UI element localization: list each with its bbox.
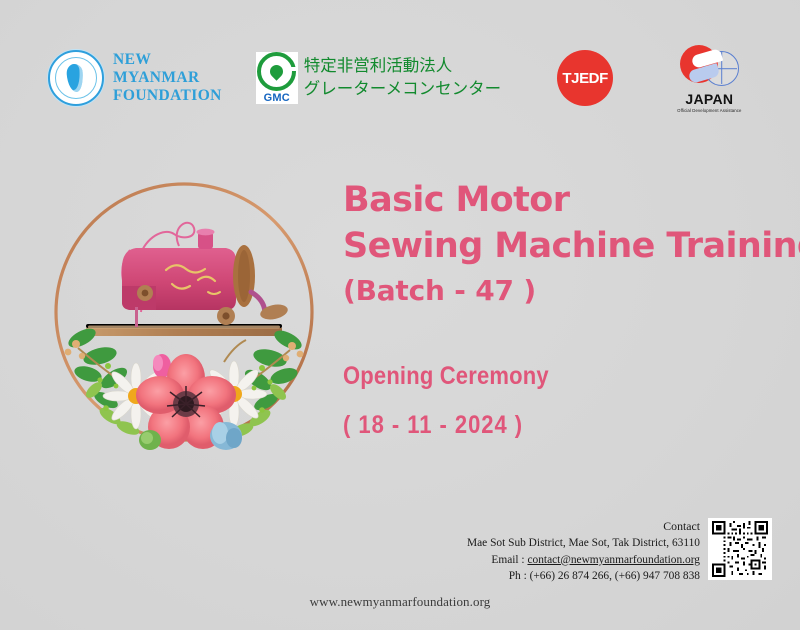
contact-email-link[interactable]: contact@newmyanmarfoundation.org: [527, 554, 700, 566]
gmc-leaf-shape: [268, 62, 286, 80]
footer-website[interactable]: www.newmyanmarfoundation.org: [0, 594, 800, 610]
headline-batch-line: (Batch - 47 ): [343, 270, 800, 312]
gmc-leaf-circle-icon: GMC: [256, 52, 298, 104]
gmc-japanese-name: 特定非営利活動法人 グレーターメコンセンター: [304, 55, 501, 101]
nmf-line-2: MYANMAR: [113, 69, 222, 87]
nmf-wordmark: NEW MYANMAR FOUNDATION: [113, 51, 222, 105]
nmf-line-1: NEW: [113, 51, 222, 69]
tjedf-label: TJEDF: [562, 70, 608, 87]
gmc-jp-line-1: 特定非営利活動法人: [304, 55, 501, 78]
ceremony-date: ( 18 - 11 - 2024 ): [343, 411, 549, 440]
contact-address: Mae Sot Sub District, Mae Sot, Tak Distr…: [467, 535, 700, 552]
nmf-line-3: FOUNDATION: [113, 87, 222, 105]
logo-strip: NEW MYANMAR FOUNDATION GMC 特定非営利活動法人 グレー…: [48, 36, 772, 120]
qr-code-icon[interactable]: [708, 518, 772, 580]
japan-wordmark: JAPAN: [685, 92, 733, 106]
japan-oda-subtitle: Official Development Assistance: [677, 108, 741, 113]
poster-canvas: NEW MYANMAR FOUNDATION GMC 特定非営利活動法人 グレー…: [0, 0, 800, 630]
tjedf-red-circle-icon: TJEDF: [557, 50, 613, 106]
gmc-jp-line-2: グレーターメコンセンター: [304, 78, 501, 101]
ceremony-label: Opening Ceremony: [343, 362, 549, 391]
gmc-ring-shape: [257, 52, 296, 91]
nmf-circular-seal-icon: [48, 50, 104, 106]
headline-line-1: Basic Motor: [343, 178, 800, 224]
contact-heading: Contact: [467, 518, 700, 535]
logo-gmc: GMC 特定非営利活動法人 グレーターメコンセンター: [256, 52, 501, 104]
logo-japan-oda: JAPAN Official Development Assistance: [677, 43, 741, 113]
logo-new-myanmar-foundation: NEW MYANMAR FOUNDATION: [48, 50, 222, 106]
contact-email-row: Email : contact@newmyanmarfoundation.org: [467, 552, 700, 569]
headline-line-2: Sewing Machine Training: [343, 224, 800, 270]
contact-phone: Ph : (+66) 26 874 266, (+66) 947 708 838: [467, 568, 700, 585]
logo-tjedf: TJEDF: [557, 50, 613, 106]
sewing-machine-floral-wreath-illustration: [48, 152, 320, 452]
japan-oda-handshake-globe-icon: [678, 43, 740, 91]
headline-block: Basic Motor Sewing Machine Training (Bat…: [343, 178, 800, 312]
ceremony-block: Opening Ceremony ( 18 - 11 - 2024 ): [343, 362, 577, 440]
contact-block: Contact Mae Sot Sub District, Mae Sot, T…: [467, 518, 700, 585]
contact-email-prefix: Email :: [491, 554, 527, 566]
gmc-mark-label: GMC: [264, 92, 290, 104]
